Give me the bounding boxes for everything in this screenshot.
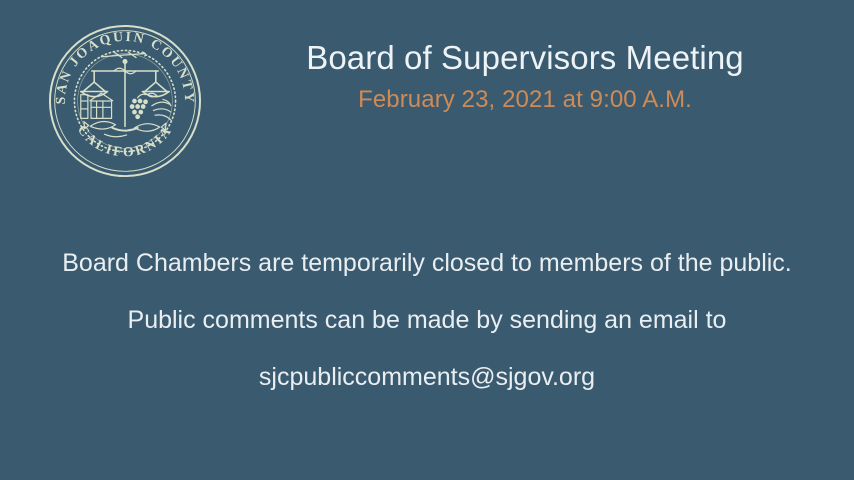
notice-line-closure: Board Chambers are temporarily closed to… [0,248,854,279]
page-title: Board of Supervisors Meeting [215,38,835,78]
header: Board of Supervisors Meeting February 23… [215,38,835,115]
notice-line-instructions: Public comments can be made by sending a… [0,305,854,336]
public-notice: Board Chambers are temporarily closed to… [0,248,854,393]
meeting-slide: SAN JOAQUIN COUNTY CALIFORNIA [0,0,854,480]
public-comment-email: sjcpubliccomments@sjgov.org [0,362,854,393]
county-seal: SAN JOAQUIN COUNTY CALIFORNIA [43,22,207,180]
meeting-datetime: February 23, 2021 at 9:00 A.M. [215,85,835,115]
seal-bottom-text: CALIFORNIA [75,122,176,160]
